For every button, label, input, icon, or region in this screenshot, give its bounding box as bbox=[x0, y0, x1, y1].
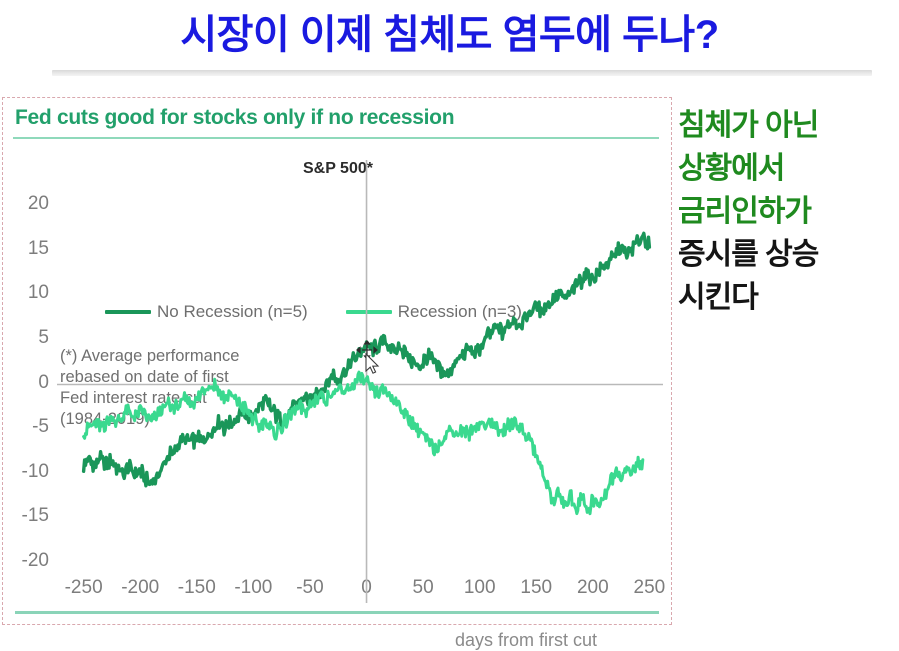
side-line-1: 침체가 아닌 bbox=[678, 104, 896, 147]
x-axis-label: days from first cut bbox=[455, 630, 597, 651]
side-line-4: 증시를 상승 bbox=[678, 233, 896, 276]
title-divider bbox=[52, 70, 872, 76]
page-title: 시장이 이제 침체도 염두에 두나? bbox=[0, 0, 899, 62]
side-commentary: 침체가 아닌 상황에서 금리인하가 증시를 상승 시킨다 bbox=[678, 104, 896, 319]
side-line-5: 시킨다 bbox=[678, 276, 896, 319]
side-line-2: 상황에서 bbox=[678, 147, 896, 190]
chart-footer-divider bbox=[15, 611, 659, 614]
side-line-3: 금리인하가 bbox=[678, 190, 896, 233]
series-line-2 bbox=[84, 372, 643, 514]
slide-root: 시장이 이제 침체도 염두에 두나? Fed cuts good for sto… bbox=[0, 0, 899, 631]
chart-plot-area[interactable] bbox=[3, 98, 673, 626]
chart-card[interactable]: Fed cuts good for stocks only if no rece… bbox=[2, 97, 672, 625]
